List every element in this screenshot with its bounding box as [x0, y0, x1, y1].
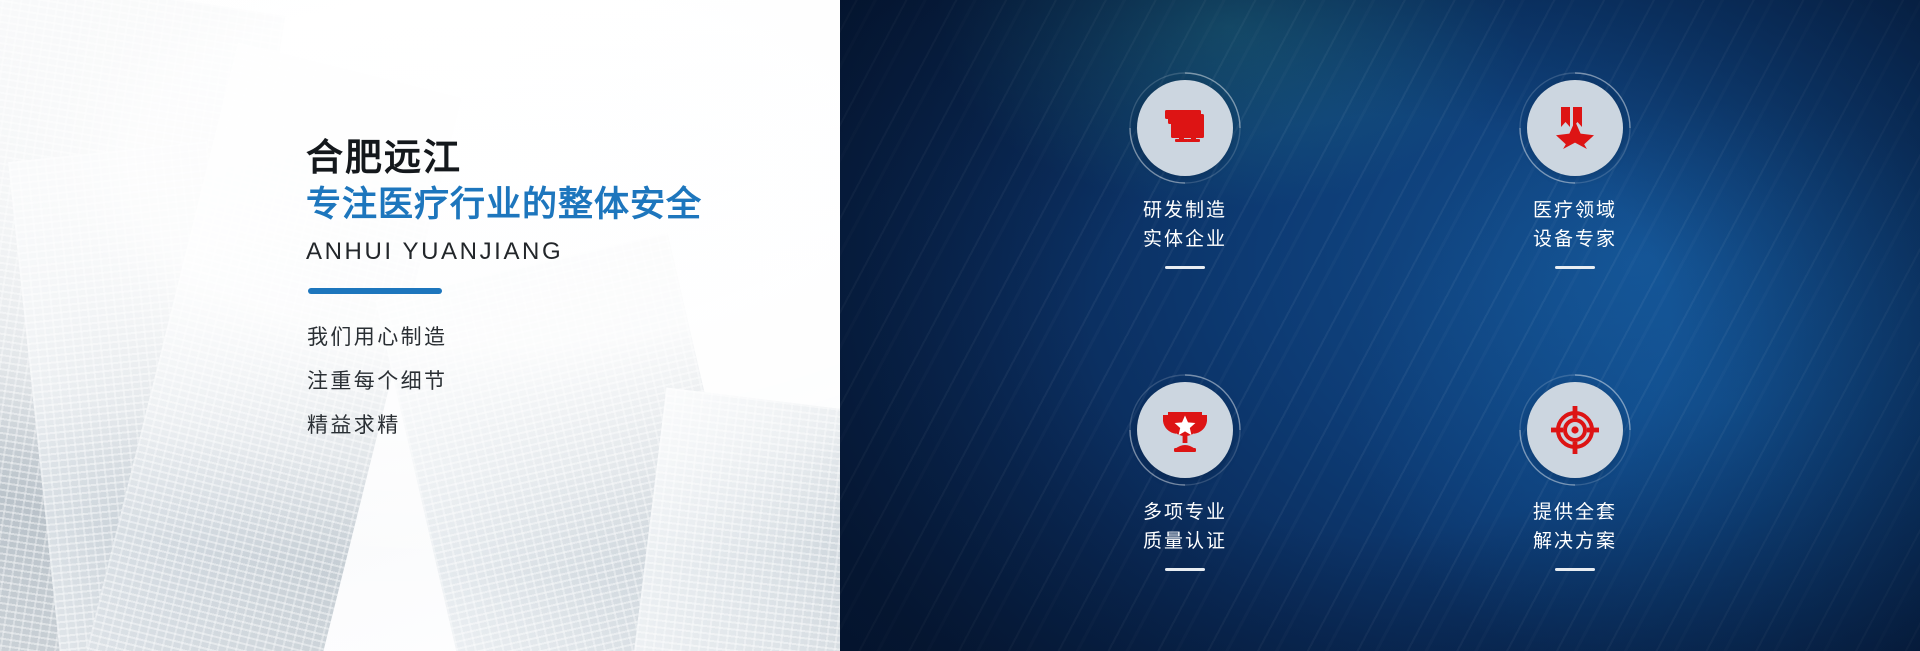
feature-caption-line2: 设备专家	[1533, 225, 1617, 254]
slogan-line: 我们用心制造	[307, 316, 447, 360]
slogan-line: 注重每个细节	[307, 360, 447, 404]
feature-caption-line1: 多项专业	[1143, 498, 1227, 527]
feature-caption-line2: 实体企业	[1143, 225, 1227, 254]
hero-banner: 合肥远江 专注医疗行业的整体安全 ANHUI YUANJIANG 我们用心制造 …	[0, 0, 1920, 651]
left-panel: 合肥远江 专注医疗行业的整体安全 ANHUI YUANJIANG 我们用心制造 …	[0, 0, 840, 651]
caption-underline	[1555, 568, 1595, 571]
factory-icon	[1160, 107, 1210, 149]
right-panel: 研发制造 实体企业	[840, 0, 1920, 651]
medal-star-icon	[1553, 105, 1597, 151]
icon-disc	[1137, 80, 1233, 176]
icon-disc	[1527, 80, 1623, 176]
icon-disc	[1137, 382, 1233, 478]
company-name-title: 合肥远江	[306, 137, 462, 180]
feature-caption: 多项专业 质量认证	[1143, 498, 1227, 556]
company-name-pinyin: ANHUI YUANJIANG	[306, 238, 563, 266]
icon-badge	[1527, 80, 1623, 176]
feature-card-certifications[interactable]: 多项专业 质量认证	[990, 326, 1380, 628]
feature-caption-line1: 研发制造	[1143, 196, 1227, 225]
feature-caption-line2: 质量认证	[1143, 527, 1227, 556]
feature-grid: 研发制造 实体企业	[840, 0, 1920, 651]
icon-badge	[1137, 382, 1233, 478]
trophy-icon	[1161, 407, 1209, 453]
feature-caption: 医疗领域 设备专家	[1533, 196, 1617, 254]
icon-badge	[1137, 80, 1233, 176]
slogan-line: 精益求精	[307, 404, 447, 448]
slogan-list: 我们用心制造 注重每个细节 精益求精	[307, 316, 447, 448]
caption-underline	[1165, 266, 1205, 269]
feature-caption-line1: 医疗领域	[1533, 196, 1617, 225]
feature-card-solutions[interactable]: 提供全套 解决方案	[1380, 326, 1770, 628]
feature-caption: 提供全套 解决方案	[1533, 498, 1617, 556]
left-copy-block: 合肥远江 专注医疗行业的整体安全 ANHUI YUANJIANG 我们用心制造 …	[306, 0, 826, 651]
tagline-title: 专注医疗行业的整体安全	[306, 185, 702, 225]
accent-divider	[308, 288, 442, 294]
feature-card-medical-expert[interactable]: 医疗领域 设备专家	[1380, 24, 1770, 326]
feature-card-manufacturing[interactable]: 研发制造 实体企业	[990, 24, 1380, 326]
caption-underline	[1165, 568, 1205, 571]
feature-caption-line2: 解决方案	[1533, 527, 1617, 556]
caption-underline	[1555, 266, 1595, 269]
feature-caption: 研发制造 实体企业	[1143, 196, 1227, 254]
icon-badge	[1527, 382, 1623, 478]
target-icon	[1551, 406, 1599, 454]
feature-caption-line1: 提供全套	[1533, 498, 1617, 527]
icon-disc	[1527, 382, 1623, 478]
